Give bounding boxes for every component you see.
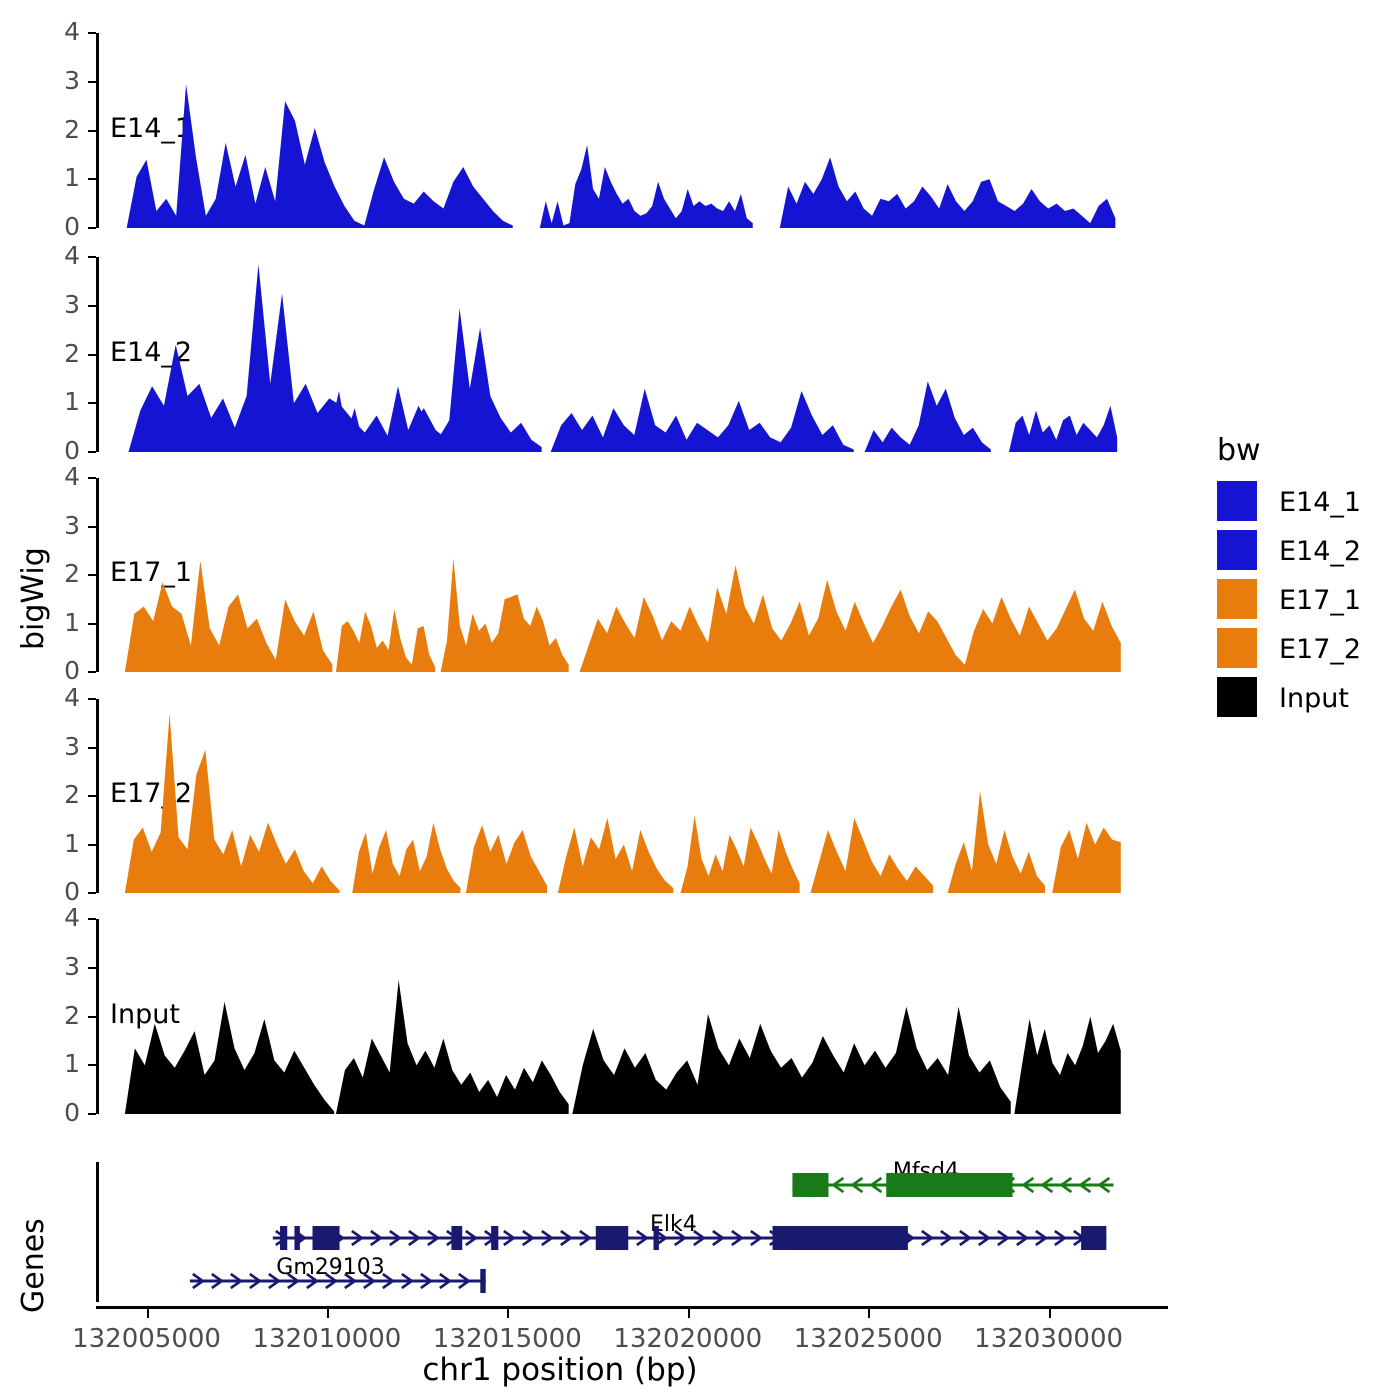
legend-label-e17_2: E17_2 [1279, 634, 1361, 665]
x-axis-title: chr1 position (bp) [240, 1352, 880, 1388]
gene-panel-spine [96, 1162, 99, 1302]
legend-label-e14_1: E14_1 [1279, 487, 1361, 518]
figure-root: bigWig Genes 01234E14_101234E14_201234E1… [0, 0, 1400, 1400]
gene-label-mfsd4: Mfsd4 [893, 1159, 959, 1184]
x-tick-label: 132010000 [237, 1324, 417, 1354]
x-axis-line [96, 1306, 1168, 1309]
legend-label-e14_2: E14_2 [1279, 536, 1361, 567]
x-tick [688, 1309, 690, 1318]
x-tick-label: 132025000 [778, 1324, 958, 1354]
y-tick-label: 3 [38, 954, 80, 979]
x-tick-label: 132005000 [57, 1324, 237, 1354]
legend-swatch-e17_2[interactable] [1217, 628, 1257, 668]
y-tick-label: 2 [38, 1003, 80, 1028]
signal-segment [572, 1007, 1010, 1114]
signal-area-input [0, 0, 1400, 1400]
y-tick [88, 918, 96, 920]
y-axis-spine [96, 919, 99, 1114]
signal-segment [1014, 1017, 1120, 1115]
x-tick-label: 132020000 [598, 1324, 778, 1354]
legend-swatch-e17_1[interactable] [1217, 579, 1257, 619]
legend-label-e17_1: E17_1 [1279, 585, 1361, 616]
y-tick-label: 4 [38, 905, 80, 930]
y-tick-label: 0 [38, 1100, 80, 1125]
legend-swatch-e14_2[interactable] [1217, 530, 1257, 570]
x-tick [1049, 1309, 1051, 1318]
x-tick [327, 1309, 329, 1318]
y-tick [88, 1113, 96, 1115]
x-tick [868, 1309, 870, 1318]
legend-label-input: Input [1279, 683, 1349, 714]
x-tick [147, 1309, 149, 1318]
legend-swatch-input[interactable] [1217, 677, 1257, 717]
y-tick [88, 1016, 96, 1018]
gene-label-gm29103: Gm29103 [276, 1255, 384, 1280]
legend-title: bw [1217, 433, 1261, 468]
x-tick-label: 132030000 [959, 1324, 1139, 1354]
signal-segment [336, 980, 569, 1114]
legend-swatch-e14_1[interactable] [1217, 481, 1257, 521]
y-tick [88, 1064, 96, 1066]
x-tick-label: 132015000 [417, 1324, 597, 1354]
signal-panel-input: 01234Input [0, 0, 1400, 1400]
gene-label-elk4: Elk4 [650, 1212, 697, 1237]
y-tick-label: 1 [38, 1051, 80, 1076]
y-tick [88, 967, 96, 969]
panel-label-input: Input [110, 999, 180, 1030]
x-tick [507, 1309, 509, 1318]
